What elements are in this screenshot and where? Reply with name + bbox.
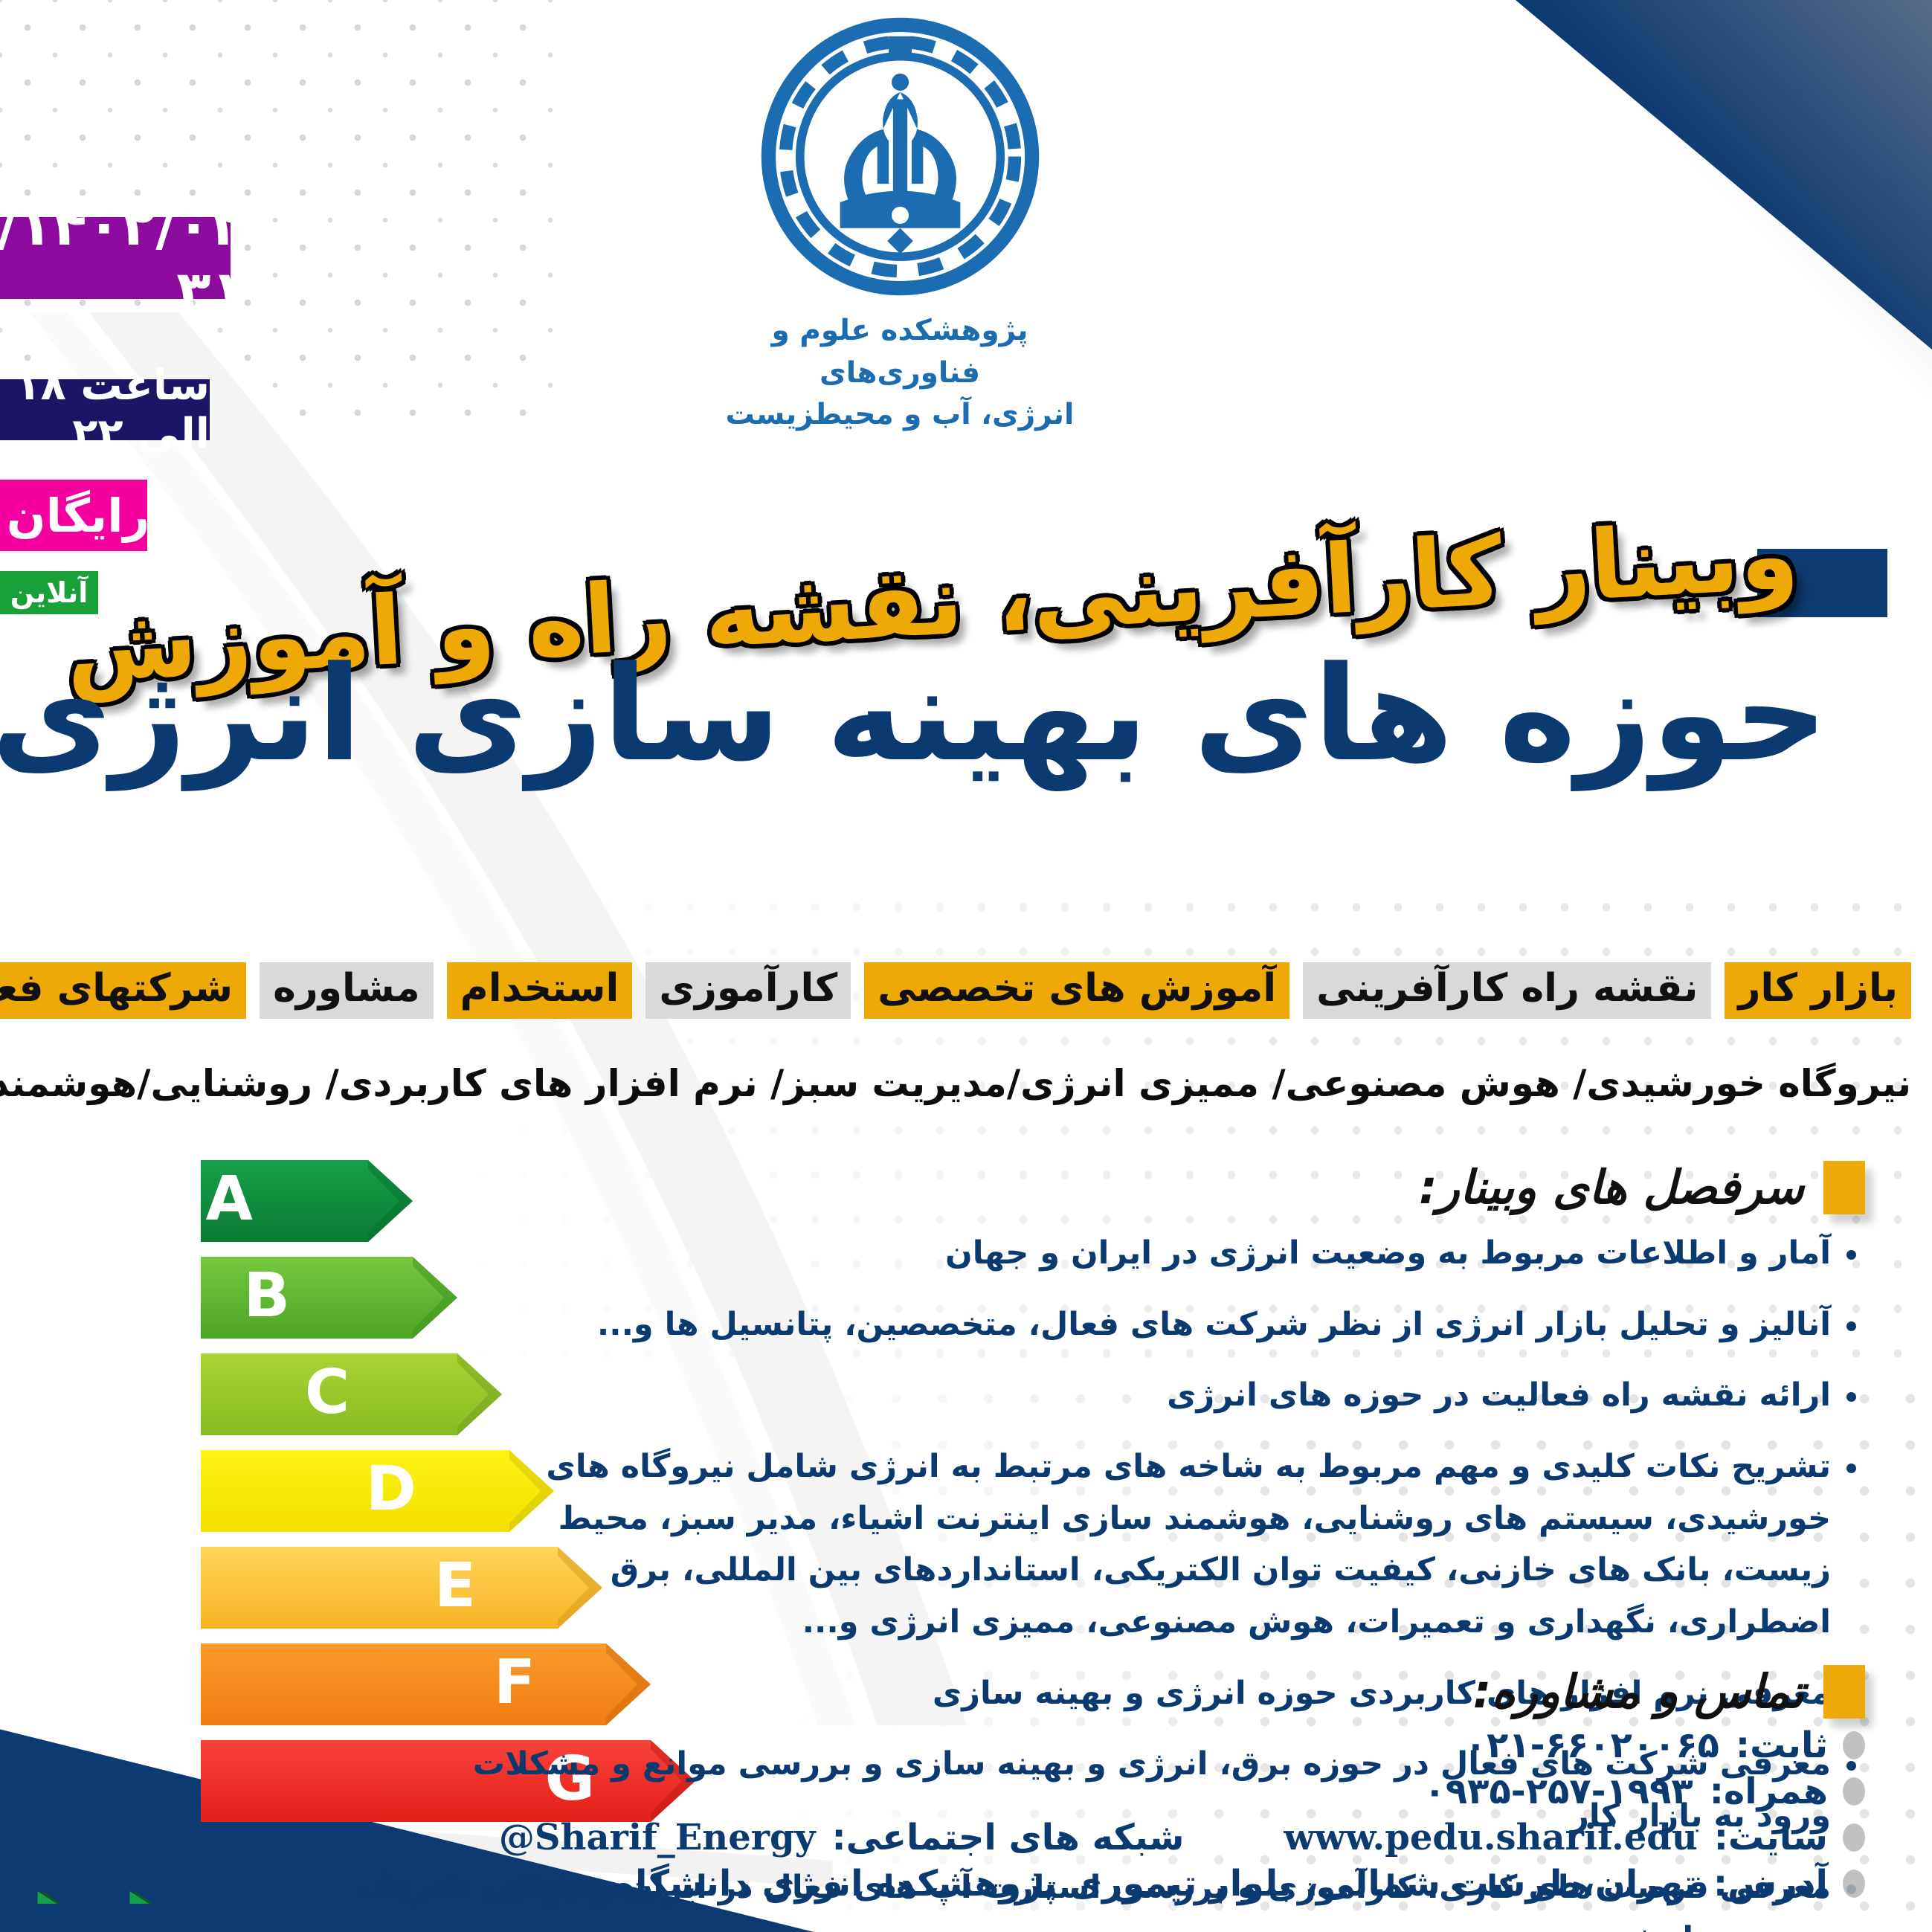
contact-row-website: سایت: www.pedu.sharif.edu شبکه های اجتما… xyxy=(467,1817,1865,1858)
tag-chip-amoozesh-takhassosi[interactable]: آموزش های تخصصی xyxy=(864,962,1289,1019)
badge-free: رایگان xyxy=(0,480,147,551)
contact-heading-row: تماس و مشاوره: xyxy=(467,1664,1865,1719)
syllabus-square-icon xyxy=(1823,1161,1865,1214)
corner-blue-triangle xyxy=(1516,0,1932,350)
badge-date: ۱۴۰۲/۰۲/ ۳۱ xyxy=(0,217,231,299)
contact-value-website[interactable]: www.pedu.sharif.edu xyxy=(1284,1817,1697,1858)
contact-row-phone: ثابت: ۰۲۱-۶۶۰۲۰۰۶۵ xyxy=(467,1725,1865,1766)
contact-value-mobile: ۰۹۳۵-۲۵۷-۱۹۹۳ xyxy=(1424,1771,1693,1812)
svg-text:C: C xyxy=(305,1357,350,1428)
contact-row-address: آدرس: تهران،طرشت شمالی، بلوار تیموری پژو… xyxy=(467,1863,1865,1904)
contact-label-address: آدرس: xyxy=(1713,1863,1828,1904)
svg-text:ENERGY: ENERGY xyxy=(30,1889,109,1904)
list-item: آمار و اطلاعات مربوط به وضعیت انرژی در ا… xyxy=(467,1228,1865,1280)
contact-label-phone: ثابت: xyxy=(1736,1725,1828,1766)
bullet-dot-icon xyxy=(1843,1823,1865,1852)
bullet-dot-icon xyxy=(1843,1731,1865,1759)
contact-square-icon xyxy=(1823,1665,1865,1719)
bullet-dot-icon xyxy=(1843,1777,1865,1806)
energy-efficiency-vertical-label: ENERGY ENERGY EFFICIENCY EFFICIENCY xyxy=(30,1889,205,1904)
contact-row-mobile: همراه: ۰۹۳۵-۲۵۷-۱۹۹۳ xyxy=(467,1771,1865,1812)
energy-bar-B: B xyxy=(201,1257,457,1339)
list-item: تشریح نکات کلیدی و مهم مربوط به شاخه های… xyxy=(467,1441,1865,1649)
contact-value-social[interactable]: @Sharif_Energy xyxy=(499,1817,816,1858)
contact-value-address: تهران،طرشت شمالی، بلوار تیموری پژوهشکده … xyxy=(356,1863,1697,1904)
list-item: ارائه نقشه راه فعالیت در حوزه های انرژی xyxy=(467,1370,1865,1422)
svg-text:EFFICIENCY: EFFICIENCY xyxy=(116,1889,201,1904)
syllabus-heading-row: سرفصل های وبینار: xyxy=(467,1160,1865,1214)
tag-chip-naghshe-rah[interactable]: نقشه راه کارآفرینی xyxy=(1303,962,1711,1019)
tag-chip-moshavere[interactable]: مشاوره xyxy=(260,962,434,1019)
logo-caption-line1: پژوهشکده علوم و فناوری‌های xyxy=(699,310,1101,394)
logo-block: دانشگاه صنعتی شریف پژوهشکده علوم و فناور… xyxy=(699,13,1101,437)
bullet-dot-icon xyxy=(1843,1870,1865,1898)
tag-row: بازار کار نقشه راه کارآفرینی آموزش های ت… xyxy=(22,962,1911,1019)
tag-chip-estekhdam[interactable]: استخدام xyxy=(447,962,633,1019)
list-item: آنالیز و تحلیل بازار انرژی از نظر شرکت ه… xyxy=(467,1299,1865,1351)
contact-section: تماس و مشاوره: ثابت: ۰۲۱-۶۶۰۲۰۰۶۵ همراه:… xyxy=(467,1664,1865,1909)
sharif-university-logo: دانشگاه صنعتی شریف xyxy=(757,13,1043,300)
tag-chip-karamoozi[interactable]: کارآموزی xyxy=(645,962,851,1019)
contact-value-phone: ۰۲۱-۶۶۰۲۰۰۶۵ xyxy=(1465,1725,1719,1766)
contact-label-social: شبکه های اجتماعی: xyxy=(831,1817,1184,1858)
svg-text:A: A xyxy=(206,1164,254,1234)
energy-bar-C: C xyxy=(201,1353,502,1435)
syllabus-heading: سرفصل های وبینار: xyxy=(1419,1160,1804,1214)
logo-caption: پژوهشکده علوم و فناوری‌های انرژی، آب و م… xyxy=(699,310,1101,437)
badge-time: ساعت ۱۸ الی ۲۲ xyxy=(0,379,210,440)
page-title-sub: حوزه های بهینه سازی انرژی xyxy=(58,641,1828,788)
energy-bar-A: A xyxy=(201,1160,413,1242)
logo-caption-line2: انرژی، آب و محیطزیست xyxy=(699,394,1101,437)
svg-text:D: D xyxy=(366,1454,416,1524)
contact-label-mobile: همراه: xyxy=(1710,1771,1828,1812)
contact-rows: ثابت: ۰۲۱-۶۶۰۲۰۰۶۵ همراه: ۰۹۳۵-۲۵۷-۱۹۹۳ … xyxy=(467,1725,1865,1904)
tag-chip-sherkathaye-faal[interactable]: شرکتهای فعال xyxy=(0,962,246,1019)
contact-heading: تماس و مشاوره: xyxy=(1473,1664,1804,1719)
contact-label-website: سایت: xyxy=(1714,1817,1828,1858)
tag-chip-bazar-kar[interactable]: بازار کار xyxy=(1725,962,1911,1019)
svg-text:B: B xyxy=(243,1260,290,1331)
poster-canvas: ۱۴۰۲/۰۲/ ۳۱ ساعت ۱۸ الی ۲۲ رایگان آنلاین xyxy=(0,0,1932,1932)
subjects-line: نیروگاه خورشیدی/ هوش مصنوعی/ ممیزی انرژی… xyxy=(19,1062,1911,1105)
